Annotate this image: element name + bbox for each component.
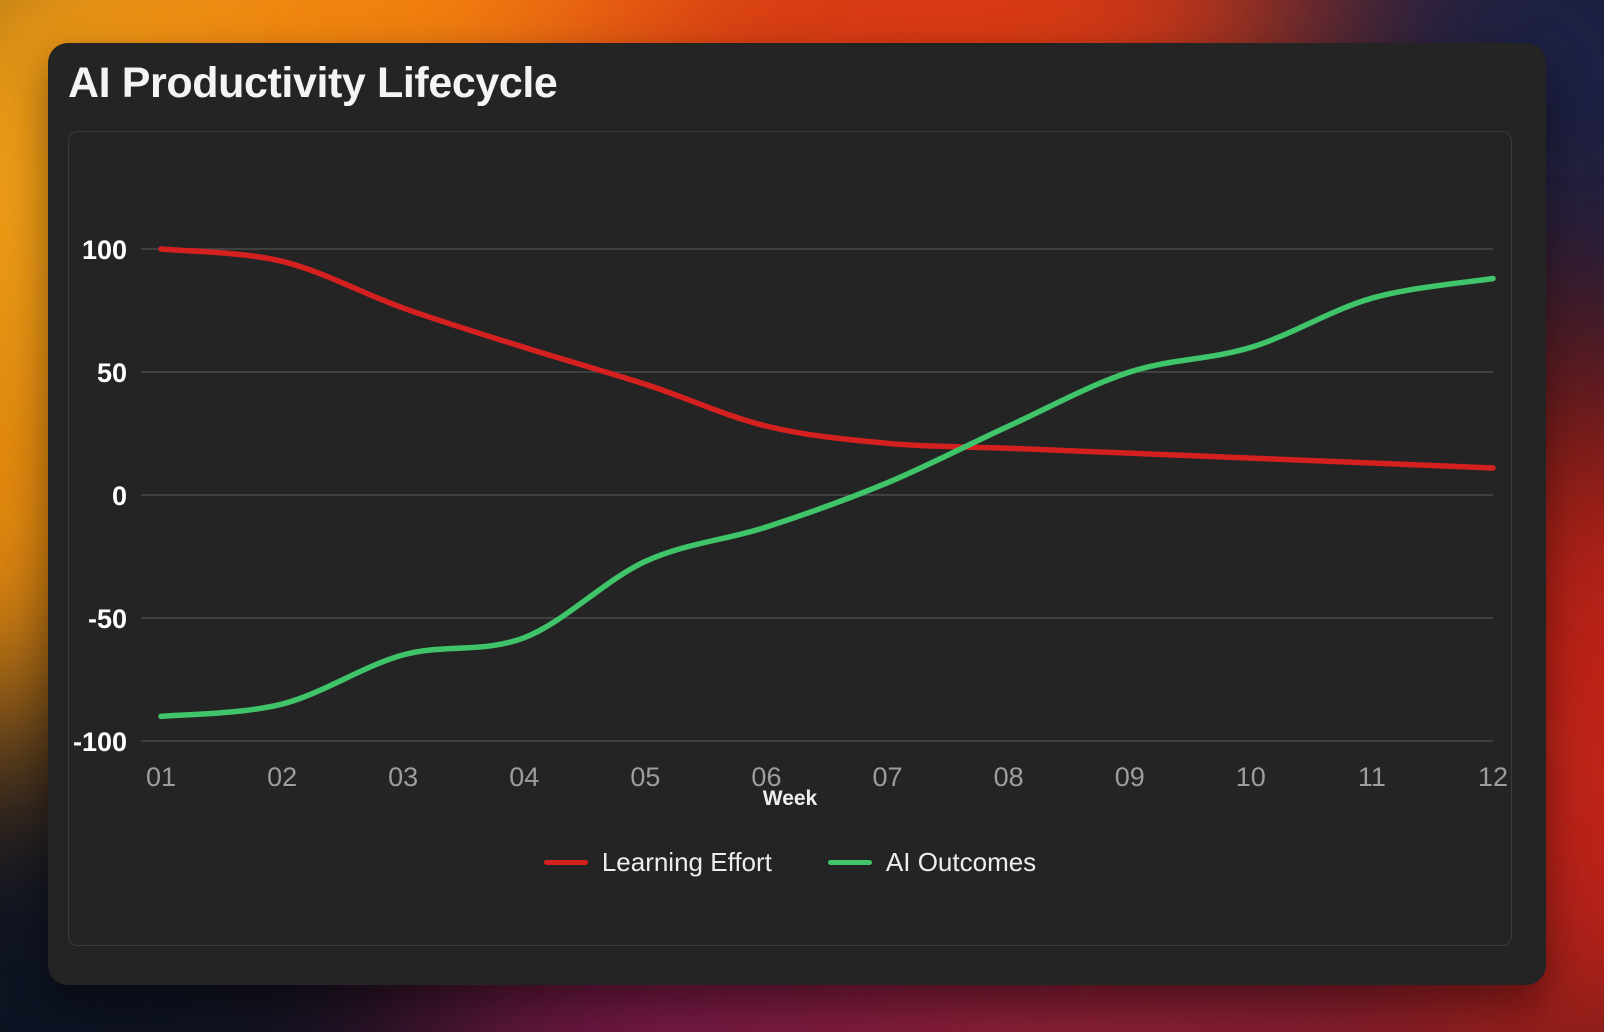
chart-legend: Learning EffortAI Outcomes bbox=[69, 847, 1511, 878]
y-tick-label: 50 bbox=[97, 358, 127, 388]
gridlines bbox=[141, 249, 1493, 741]
y-tick-label: -50 bbox=[88, 604, 127, 634]
chart-card: AI Productivity Lifecycle 100500-50-100 … bbox=[48, 43, 1546, 985]
plot-panel: 100500-50-100 010203040506070809101112 W… bbox=[68, 131, 1512, 946]
legend-label: AI Outcomes bbox=[886, 847, 1036, 878]
legend-swatch-icon bbox=[828, 860, 872, 865]
line-chart: 100500-50-100 010203040506070809101112 bbox=[69, 132, 1513, 947]
legend-item-learning-effort[interactable]: Learning Effort bbox=[544, 847, 772, 878]
legend-swatch-icon bbox=[544, 860, 588, 865]
y-tick-label: -100 bbox=[73, 727, 127, 757]
x-axis-label: Week bbox=[69, 787, 1511, 811]
page-title: AI Productivity Lifecycle bbox=[68, 59, 557, 108]
series-line-learning-effort bbox=[161, 249, 1493, 468]
legend-item-ai-outcomes[interactable]: AI Outcomes bbox=[828, 847, 1036, 878]
data-series bbox=[161, 249, 1493, 716]
series-line-ai-outcomes bbox=[161, 279, 1493, 717]
y-axis-tick-labels: 100500-50-100 bbox=[73, 235, 127, 757]
y-tick-label: 0 bbox=[112, 481, 127, 511]
legend-label: Learning Effort bbox=[602, 847, 772, 878]
y-tick-label: 100 bbox=[82, 235, 127, 265]
